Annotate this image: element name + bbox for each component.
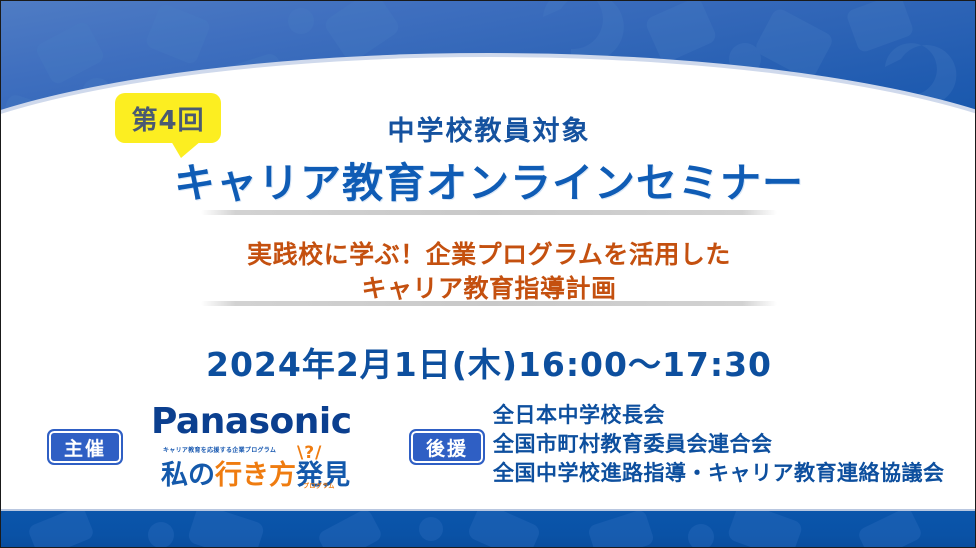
supporter-list: 全日本中学校長会 全国市町村教育委員会連合会 全国中学校進路指導・キャリア教育連… — [493, 401, 945, 488]
subtitle-line-2: キャリア教育指導計画 — [1, 269, 976, 305]
event-datetime: 2024年2月1日(木)16:00〜17:30 — [1, 338, 976, 386]
program-logo-part-2: 行き方 — [215, 460, 296, 491]
supporter-item: 全日本中学校長会 — [493, 401, 945, 430]
slide-content: 第4回 中学校教員対象 キャリア教育オンラインセミナー 実践校に学ぶ！企業プログ… — [1, 1, 976, 548]
subtitle-line-1: 実践校に学ぶ！企業プログラムを活用した — [1, 235, 976, 271]
program-logo-program-word: プログラム — [303, 481, 335, 490]
supporter-item: 全国市町村教育委員会連合会 — [493, 430, 945, 459]
support-tag: 後援 — [409, 429, 485, 465]
divider-top — [201, 210, 777, 215]
program-logo: キャリア教育を応援する企業プログラム \?/ 私の行き方発見 プログラム — [161, 445, 371, 489]
seminar-slide: 第4回 中学校教員対象 キャリア教育オンラインセミナー 実践校に学ぶ！企業プログ… — [0, 0, 976, 548]
organizer-tag: 主催 — [47, 429, 123, 465]
panasonic-logo: Panasonic — [151, 401, 352, 442]
edition-badge-label: 第4回 — [131, 100, 204, 137]
supporter-item: 全国中学校進路指導・キャリア教育連絡協議会 — [493, 459, 945, 488]
page-title: キャリア教育オンラインセミナー — [1, 149, 976, 209]
program-logo-part-1: 私の — [161, 460, 215, 491]
divider-bottom — [201, 301, 777, 306]
